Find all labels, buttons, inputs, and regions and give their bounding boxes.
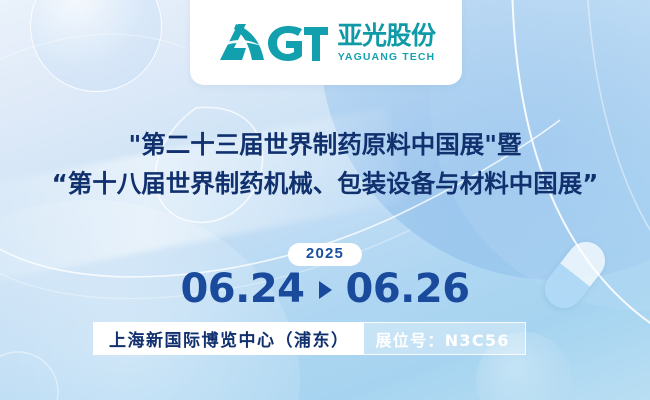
brand-wordmark: 亚光股份 YAGUANG TECH bbox=[337, 23, 435, 63]
venue-bar: 上海新国际博览中心（浦东） 展位号：N3C56 bbox=[93, 322, 526, 355]
event-year-label: 2025 bbox=[306, 245, 344, 262]
agt-logo-mark-icon bbox=[216, 20, 328, 64]
headline-line-2: “第十八届世界制药机械、包装设备与材料中国展” bbox=[0, 166, 650, 202]
exhibition-banner: 亚光股份 YAGUANG TECH "第二十三届世界制药原料中国展"暨 “第十八… bbox=[0, 0, 650, 400]
event-year-badge: 2025 bbox=[288, 243, 362, 266]
brand-name-cn: 亚光股份 bbox=[337, 23, 435, 48]
event-date-start: 06.24 bbox=[180, 269, 304, 309]
event-date-end: 06.26 bbox=[346, 269, 470, 309]
soft-circle-decor bbox=[30, 0, 162, 92]
brand-logo-panel: 亚光股份 YAGUANG TECH bbox=[190, 0, 462, 85]
headline-line-1: "第二十三届世界制药原料中国展"暨 bbox=[0, 128, 650, 162]
triangle-right-icon bbox=[319, 281, 332, 299]
venue-name: 上海新国际博览中心（浦东） bbox=[93, 322, 364, 355]
headline-block: "第二十三届世界制药原料中国展"暨 “第十八届世界制药机械、包装设备与材料中国展… bbox=[0, 128, 650, 202]
venue-booth-number: 展位号：N3C56 bbox=[364, 322, 526, 355]
event-date-range: 06.24 06.26 bbox=[0, 269, 650, 309]
brand-name-en: YAGUANG TECH bbox=[338, 52, 435, 63]
